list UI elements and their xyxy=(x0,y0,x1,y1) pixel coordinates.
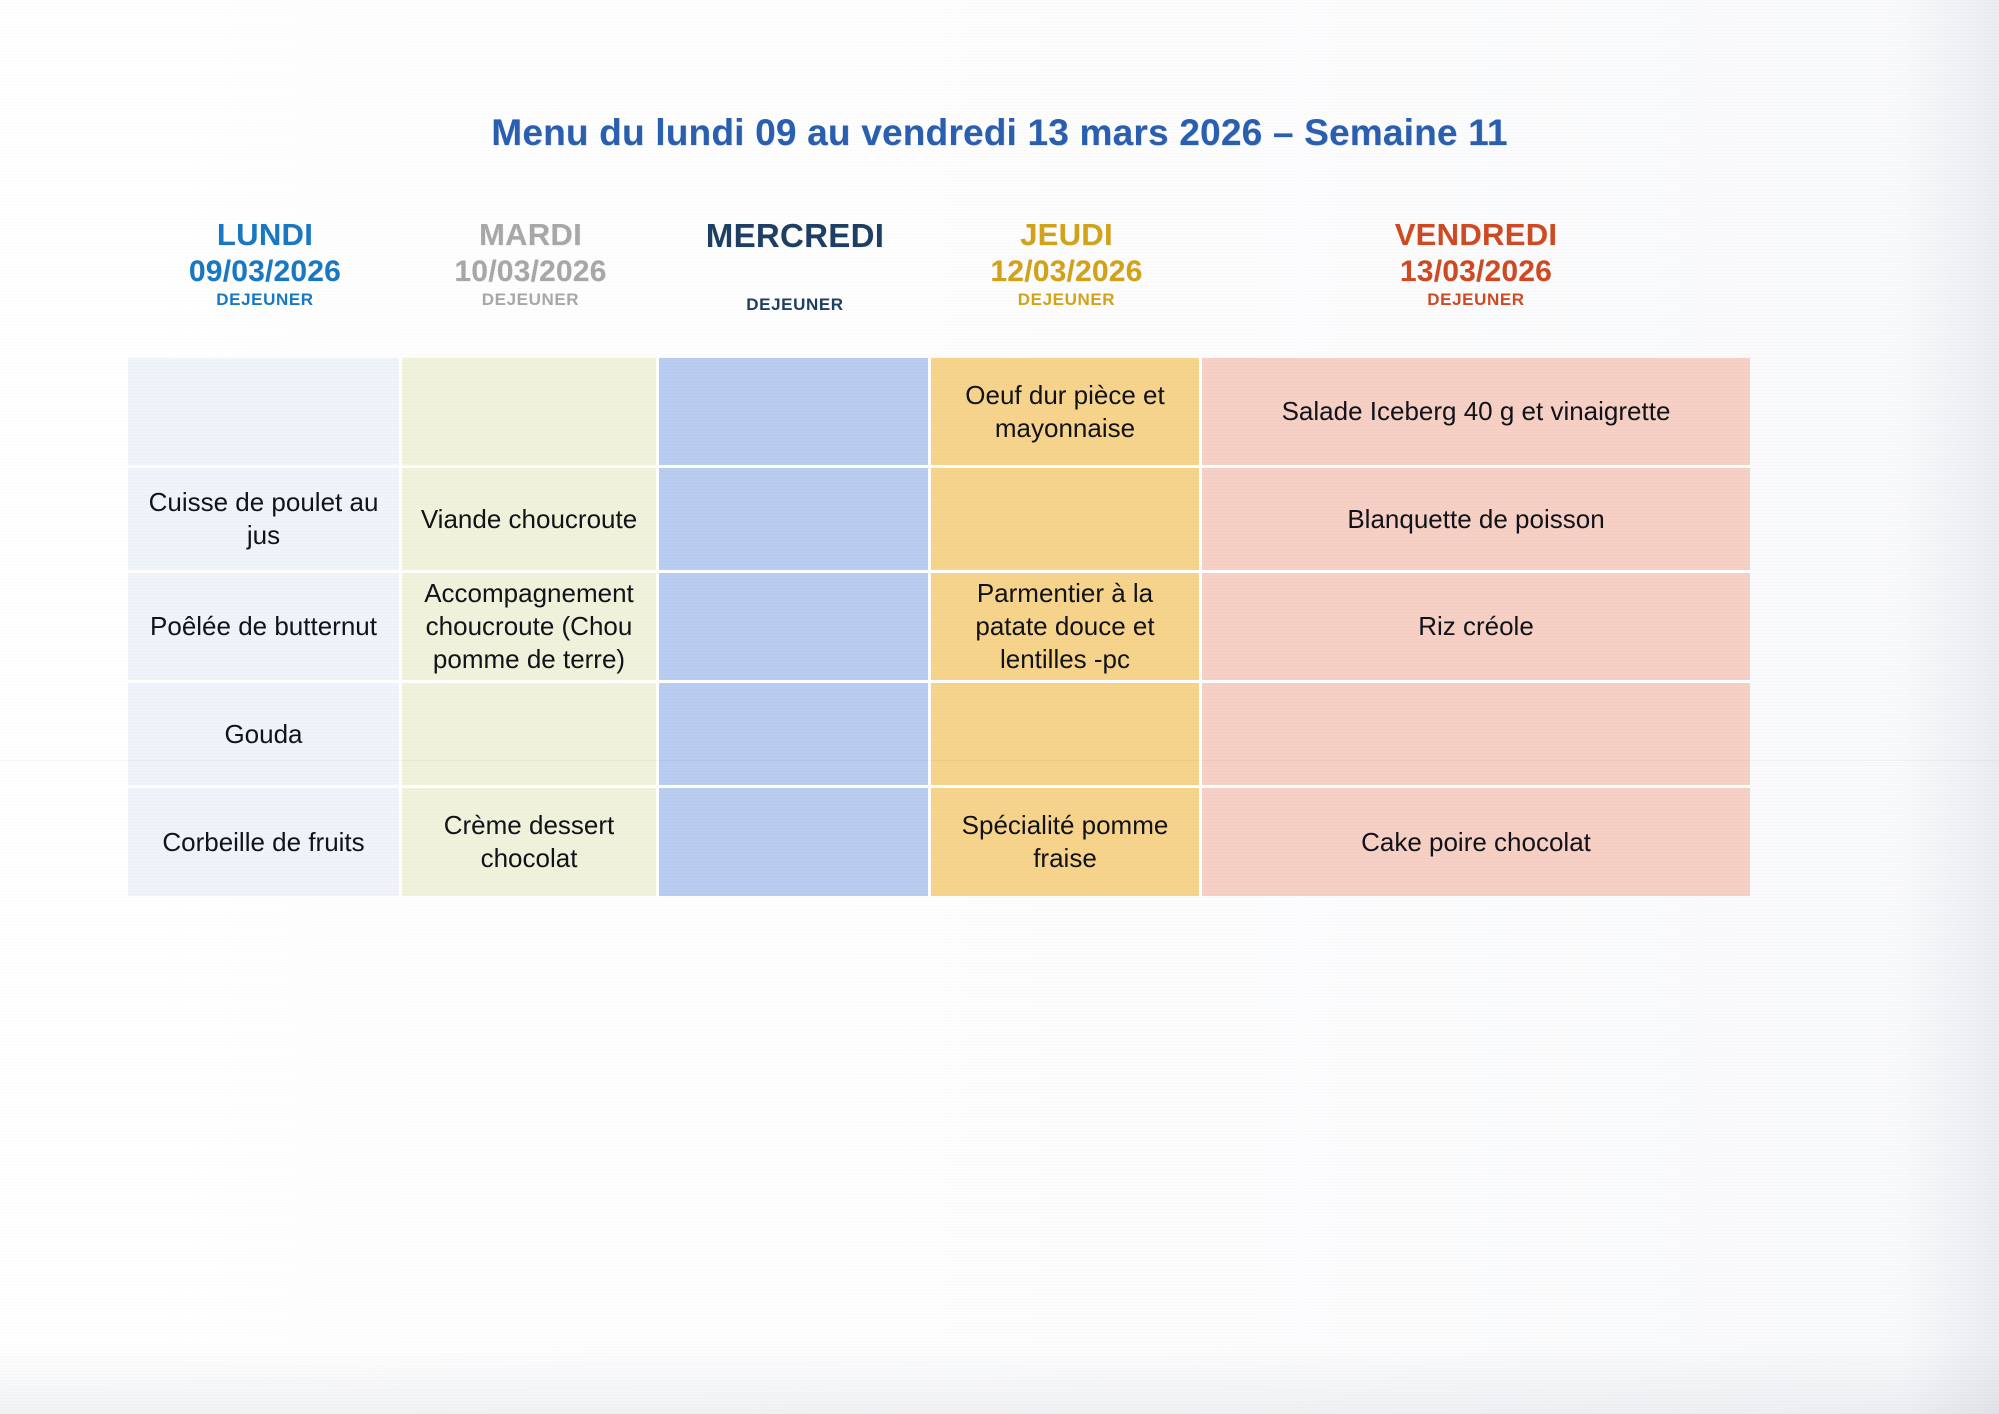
menu-cell-vendredi-dessert: Cake poire chocolat xyxy=(1202,788,1750,896)
page-title: Menu du lundi 09 au vendredi 13 mars 202… xyxy=(0,112,1999,154)
day-name-mardi: MARDI xyxy=(402,216,659,254)
day-date-vendredi: 13/03/2026 xyxy=(1202,254,1750,291)
day-date-lundi: 09/03/2026 xyxy=(128,254,402,291)
day-date-mardi: 10/03/2026 xyxy=(402,254,659,291)
day-name-vendredi: VENDREDI xyxy=(1202,216,1750,254)
menu-cell-lundi-plat: Cuisse de poulet au jus xyxy=(128,468,402,573)
meal-label-mardi: DEJEUNER xyxy=(402,290,659,310)
menu-cell-mercredi-dessert xyxy=(659,788,931,896)
meal-label-mercredi: DEJEUNER xyxy=(659,295,931,315)
menu-cell-mercredi-accompagnement xyxy=(659,573,931,683)
menu-cell-mardi-dessert: Crème dessert chocolat xyxy=(402,788,659,896)
menu-cell-vendredi-entree: Salade Iceberg 40 g et vinaigrette xyxy=(1202,358,1750,468)
menu-row: Oeuf dur pièce et mayonnaiseSalade Icebe… xyxy=(128,358,1750,468)
menu-cell-mardi-accompagnement: Accompagnement choucroute (Chou pomme de… xyxy=(402,573,659,683)
meal-label-vendredi: DEJEUNER xyxy=(1202,290,1750,310)
menu-cell-mardi-fromage xyxy=(402,683,659,788)
menu-cell-jeudi-plat xyxy=(931,468,1202,573)
menu-cell-jeudi-fromage xyxy=(931,683,1202,788)
menu-table: LUNDI09/03/2026DEJEUNERMARDI10/03/2026DE… xyxy=(128,208,1750,896)
day-name-mercredi: MERCREDI xyxy=(659,216,931,256)
menu-cell-vendredi-plat: Blanquette de poisson xyxy=(1202,468,1750,573)
menu-row: Cuisse de poulet au jusViande choucroute… xyxy=(128,468,1750,573)
menu-cell-lundi-fromage: Gouda xyxy=(128,683,402,788)
menu-row: Corbeille de fruitsCrème dessert chocola… xyxy=(128,788,1750,896)
menu-row: Poêlée de butternutAccompagnement choucr… xyxy=(128,573,1750,683)
day-header-jeudi: JEUDI12/03/2026DEJEUNER xyxy=(931,208,1202,310)
menu-cell-mardi-entree xyxy=(402,358,659,468)
menu-cell-mercredi-entree xyxy=(659,358,931,468)
meal-label-lundi: DEJEUNER xyxy=(128,290,402,310)
menu-cell-mardi-plat: Viande choucroute xyxy=(402,468,659,573)
day-header-mercredi: MERCREDI DEJEUNER xyxy=(659,208,931,315)
menu-cell-lundi-accompagnement: Poêlée de butternut xyxy=(128,573,402,683)
menu-cell-lundi-entree xyxy=(128,358,402,468)
menu-row: Gouda xyxy=(128,683,1750,788)
day-header-mardi: MARDI10/03/2026DEJEUNER xyxy=(402,208,659,310)
menu-cell-mercredi-plat xyxy=(659,468,931,573)
day-name-jeudi: JEUDI xyxy=(931,216,1202,254)
menu-cell-jeudi-accompagnement: Parmentier à la patate douce et lentille… xyxy=(931,573,1202,683)
day-header-vendredi: VENDREDI13/03/2026DEJEUNER xyxy=(1202,208,1750,310)
menu-header-row: LUNDI09/03/2026DEJEUNERMARDI10/03/2026DE… xyxy=(128,208,1750,358)
menu-cell-lundi-dessert: Corbeille de fruits xyxy=(128,788,402,896)
menu-cell-jeudi-dessert: Spécialité pomme fraise xyxy=(931,788,1202,896)
menu-cell-vendredi-fromage xyxy=(1202,683,1750,788)
meal-label-jeudi: DEJEUNER xyxy=(931,290,1202,310)
menu-body: Oeuf dur pièce et mayonnaiseSalade Icebe… xyxy=(128,358,1750,896)
day-header-lundi: LUNDI09/03/2026DEJEUNER xyxy=(128,208,402,310)
page-edge-shadow-right xyxy=(1903,0,1999,1414)
menu-cell-jeudi-entree: Oeuf dur pièce et mayonnaise xyxy=(931,358,1202,468)
day-name-lundi: LUNDI xyxy=(128,216,402,254)
page-edge-shadow-bottom xyxy=(0,1344,1999,1414)
menu-cell-mercredi-fromage xyxy=(659,683,931,788)
day-date-jeudi: 12/03/2026 xyxy=(931,254,1202,291)
menu-cell-vendredi-accompagnement: Riz créole xyxy=(1202,573,1750,683)
